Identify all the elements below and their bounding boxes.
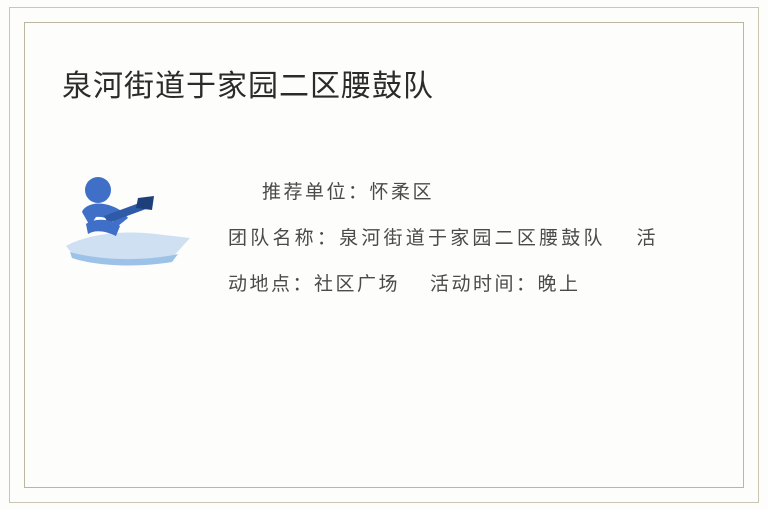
document-body: 推荐单位：怀柔区 团队名称：泉河街道于家园二区腰鼓队活动地点：社区广场活动时间：… <box>228 170 658 308</box>
team-name-label: 团队名称： <box>228 228 339 249</box>
recommend-unit-value: 怀柔区 <box>370 182 435 203</box>
document-page: 泉河街道于家园二区腰鼓队 推荐单位：怀柔区 团队名称：泉河街道于家园二区腰鼓队活… <box>0 0 768 510</box>
page-title: 泉河街道于家园二区腰鼓队 <box>62 66 434 108</box>
team-name-value: 泉河街道于家园二区腰鼓队 <box>339 228 606 249</box>
person-rowing-boat-illustration <box>60 168 210 278</box>
activity-time-value: 晚上 <box>538 274 581 295</box>
activity-place-value: 社区广场 <box>314 274 400 295</box>
recommend-unit-label: 推荐单位： <box>262 182 370 203</box>
activity-time-label: 活动时间： <box>430 274 538 295</box>
